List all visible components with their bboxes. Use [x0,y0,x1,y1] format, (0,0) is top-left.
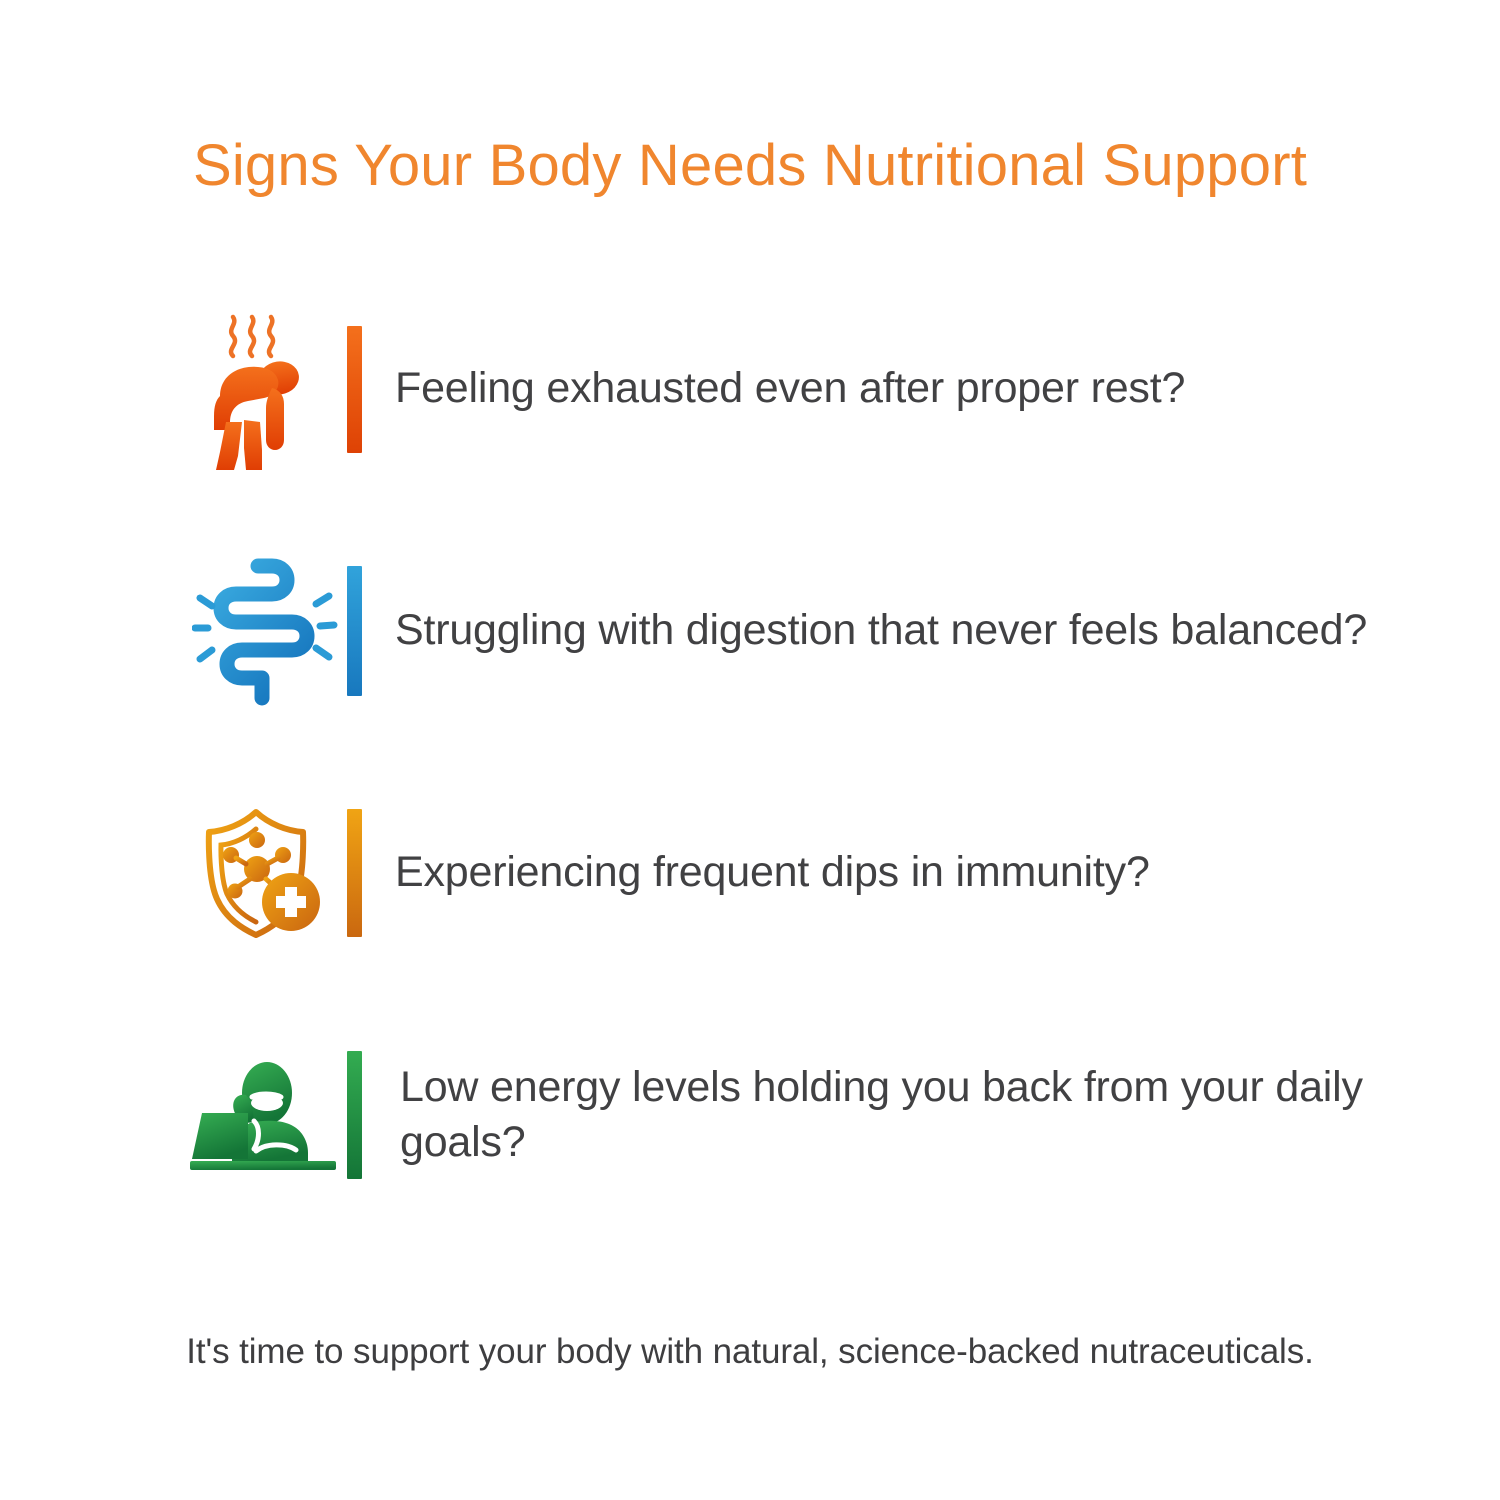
intestine-digestion-icon [190,546,340,716]
page-title: Signs Your Body Needs Nutritional Suppor… [0,132,1500,199]
list-item: Experiencing frequent dips in immunity? [0,752,1500,994]
list-item: Low energy levels holding you back from … [0,994,1500,1236]
tired-person-at-laptop-icon [190,1030,340,1200]
list-item-label: Struggling with digestion that never fee… [395,603,1367,658]
list-item: Struggling with digestion that never fee… [0,510,1500,752]
list-item-label: Feeling exhausted even after proper rest… [395,361,1185,416]
signs-list: Feeling exhausted even after proper rest… [0,268,1500,1236]
exhausted-person-icon [190,304,340,474]
infographic-poster: Signs Your Body Needs Nutritional Suppor… [0,0,1500,1500]
accent-divider [347,809,362,937]
list-item-label: Low energy levels holding you back from … [400,1060,1410,1170]
list-item-label: Experiencing frequent dips in immunity? [395,845,1150,900]
footer-tagline: It's time to support your body with natu… [0,1332,1500,1372]
accent-divider [347,1051,362,1179]
list-item: Feeling exhausted even after proper rest… [0,268,1500,510]
accent-divider [347,566,362,696]
accent-divider [347,326,362,453]
immunity-shield-icon [190,788,340,958]
